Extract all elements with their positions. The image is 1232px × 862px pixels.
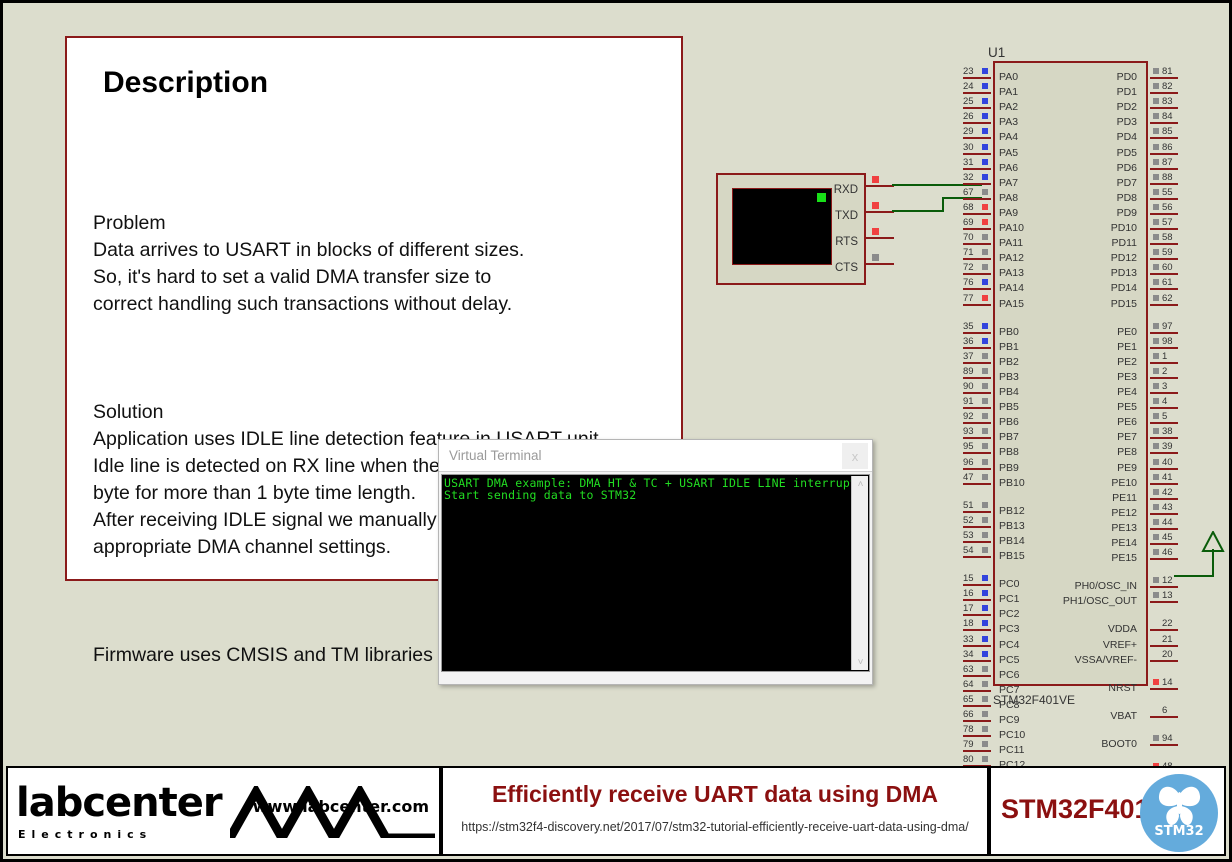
pin-label-ph0-osc-in: PH0/OSC_IN (1075, 580, 1137, 592)
serial-pin-label-cts: CTS (835, 262, 858, 274)
pin-lead-85 (1150, 137, 1178, 139)
pin-label-pa5: PA5 (999, 147, 1018, 159)
pin-label-pe4: PE4 (1117, 386, 1137, 398)
pin-label-pe10: PE10 (1111, 477, 1137, 489)
pin-lead-31 (963, 168, 991, 170)
pin-lead-84 (1150, 122, 1178, 124)
pin-label-pd0: PD0 (1117, 71, 1137, 83)
pin-lead-26 (963, 122, 991, 124)
pin-lead-72 (963, 273, 991, 275)
pin-lead-67 (963, 198, 991, 200)
pin-number-58: 58 (1162, 232, 1173, 243)
pin-lead-68 (963, 213, 991, 215)
pin-number-76: 76 (963, 277, 974, 288)
pin-marker-45 (1153, 534, 1159, 540)
pin-label-pc4: PC4 (999, 639, 1019, 651)
pin-lead-82 (1150, 92, 1178, 94)
pin-label-boot0: BOOT0 (1101, 738, 1137, 750)
pin-lead-23 (963, 77, 991, 79)
pin-marker-61 (1153, 279, 1159, 285)
mcu-reference-label: U1 (988, 45, 1005, 60)
pin-label-pb10: PB10 (999, 477, 1025, 489)
pin-number-78: 78 (963, 724, 974, 735)
pin-number-80: 80 (963, 754, 974, 765)
pin-label-pd12: PD12 (1111, 252, 1137, 264)
pin-label-pe1: PE1 (1117, 341, 1137, 353)
pin-label-pc2: PC2 (999, 608, 1019, 620)
pin-number-77: 77 (963, 293, 974, 304)
pin-number-46: 46 (1162, 547, 1173, 558)
chevron-down-icon[interactable]: ˅ (852, 654, 869, 670)
pin-marker-76 (982, 279, 988, 285)
pin-lead-71 (963, 258, 991, 260)
pin-label-pe11: PE11 (1112, 492, 1137, 504)
pin-lead-25 (963, 107, 991, 109)
pin-marker-60 (1153, 264, 1159, 270)
pin-lead-81 (1150, 77, 1178, 79)
pin-number-81: 81 (1162, 66, 1173, 77)
pin-lead-92 (963, 422, 991, 424)
pin-number-43: 43 (1162, 502, 1173, 513)
pin-marker-92 (982, 413, 988, 419)
pin-marker-58 (1153, 234, 1159, 240)
virtual-terminal-scrollbar[interactable]: ˄ ˅ (851, 476, 868, 670)
pin-label-pa1: PA1 (999, 86, 1018, 98)
pin-marker-30 (982, 144, 988, 150)
pin-label-pd3: PD3 (1117, 116, 1137, 128)
pin-number-29: 29 (963, 126, 974, 137)
power-symbol-icon (1201, 531, 1225, 553)
pin-lead-93 (963, 437, 991, 439)
pin-label-pd6: PD6 (1117, 162, 1137, 174)
pin-label-pb4: PB4 (999, 386, 1019, 398)
pin-lead-56 (1150, 213, 1178, 215)
pin-lead-83 (1150, 107, 1178, 109)
pin-lead-1 (1150, 362, 1178, 364)
pin-marker-65 (982, 696, 988, 702)
pin-lead-41 (1150, 483, 1178, 485)
pin-label-pe8: PE8 (1117, 446, 1137, 458)
pin-number-33: 33 (963, 634, 974, 645)
pin-label-pd10: PD10 (1111, 222, 1137, 234)
pin-marker-34 (982, 651, 988, 657)
pin-number-47: 47 (963, 472, 974, 483)
close-icon[interactable]: x (842, 443, 868, 469)
pin-lead-29 (963, 137, 991, 139)
pin-marker-17 (982, 605, 988, 611)
pin-number-42: 42 (1162, 487, 1173, 498)
chevron-up-icon[interactable]: ˄ (852, 476, 869, 492)
pin-lead-4 (1150, 407, 1178, 409)
footer: labcenter Electronics www.labcenter.com … (6, 766, 1226, 856)
pin-number-34: 34 (963, 649, 974, 660)
pin-label-pe14: PE14 (1111, 537, 1137, 549)
pin-lead-47 (963, 483, 991, 485)
pin-number-38: 38 (1162, 426, 1173, 437)
pin-label-pe5: PE5 (1117, 401, 1137, 413)
pin-marker-4 (1153, 398, 1159, 404)
pin-marker-14 (1153, 679, 1159, 685)
pin-label-nrst: NRST (1108, 682, 1137, 694)
pin-marker-32 (982, 174, 988, 180)
pin-lead-94 (1150, 744, 1178, 746)
pin-marker-42 (1153, 489, 1159, 495)
pin-lead-46 (1150, 558, 1178, 560)
pin-marker-39 (1153, 443, 1159, 449)
pin-lead-78 (963, 735, 991, 737)
pin-marker-56 (1153, 204, 1159, 210)
serial-marker-txd (872, 202, 879, 209)
pin-number-96: 96 (963, 457, 974, 468)
pin-label-pb7: PB7 (999, 431, 1019, 443)
pin-number-44: 44 (1162, 517, 1173, 528)
serial-marker-rxd (872, 176, 879, 183)
pin-marker-77 (982, 295, 988, 301)
pin-lead-89 (963, 377, 991, 379)
pin-marker-38 (1153, 428, 1159, 434)
pin-lead-90 (963, 392, 991, 394)
pin-marker-3 (1153, 383, 1159, 389)
waveform-icon (230, 786, 435, 838)
pin-label-pe12: PE12 (1111, 507, 1137, 519)
pin-number-88: 88 (1162, 172, 1173, 183)
labcenter-subtitle: Electronics (18, 828, 152, 841)
pin-label-pb12: PB12 (999, 505, 1025, 517)
pin-marker-51 (982, 502, 988, 508)
stm32-badge-icon: STM32 (1140, 774, 1218, 852)
pin-number-71: 71 (963, 247, 974, 258)
pin-marker-83 (1153, 98, 1159, 104)
pin-lead-52 (963, 526, 991, 528)
pin-marker-85 (1153, 128, 1159, 134)
pin-number-79: 79 (963, 739, 974, 750)
pin-marker-79 (982, 741, 988, 747)
pin-label-pc6: PC6 (999, 669, 1019, 681)
pin-number-26: 26 (963, 111, 974, 122)
pin-number-12: 12 (1162, 575, 1173, 586)
pin-label-pc11: PC11 (999, 744, 1025, 756)
pin-label-pc0: PC0 (999, 578, 1019, 590)
pin-marker-16 (982, 590, 988, 596)
pin-lead-70 (963, 243, 991, 245)
pin-lead-87 (1150, 168, 1178, 170)
serial-marker-cts (872, 254, 879, 261)
pin-number-86: 86 (1162, 142, 1173, 153)
pin-label-pa3: PA3 (999, 116, 1018, 128)
pin-marker-64 (982, 681, 988, 687)
pin-label-pb3: PB3 (999, 371, 1019, 383)
pin-label-pa0: PA0 (999, 71, 1018, 83)
pin-lead-79 (963, 750, 991, 752)
pin-lead-16 (963, 599, 991, 601)
pin-lead-18 (963, 629, 991, 631)
pin-marker-33 (982, 636, 988, 642)
pin-number-72: 72 (963, 262, 974, 273)
pin-lead-95 (963, 452, 991, 454)
pin-number-4: 4 (1162, 396, 1167, 407)
pin-marker-29 (982, 128, 988, 134)
pin-marker-98 (1153, 338, 1159, 344)
pin-label-pe7: PE7 (1117, 431, 1137, 443)
pin-marker-86 (1153, 144, 1159, 150)
pin-lead-34 (963, 660, 991, 662)
pin-marker-15 (982, 575, 988, 581)
pin-number-37: 37 (963, 351, 974, 362)
pin-label-pe13: PE13 (1111, 522, 1137, 534)
pin-number-65: 65 (963, 694, 974, 705)
pin-lead-5 (1150, 422, 1178, 424)
pin-lead-39 (1150, 452, 1178, 454)
pin-lead-97 (1150, 332, 1178, 334)
pin-number-18: 18 (963, 618, 974, 629)
pin-label-vssa-vref-: VSSA/VREF- (1075, 654, 1137, 666)
pin-label-pb15: PB15 (999, 550, 1025, 562)
pin-marker-80 (982, 756, 988, 762)
pin-number-52: 52 (963, 515, 974, 526)
pin-number-98: 98 (1162, 336, 1173, 347)
footer-title: Efficiently receive UART data using DMA (443, 781, 987, 808)
pin-number-85: 85 (1162, 126, 1173, 137)
pin-number-25: 25 (963, 96, 974, 107)
pin-label-pd4: PD4 (1117, 131, 1137, 143)
pin-lead-58 (1150, 243, 1178, 245)
pin-lead-12 (1150, 586, 1178, 588)
serial-lead-rts (866, 237, 894, 239)
pin-marker-52 (982, 517, 988, 523)
pin-marker-46 (1153, 549, 1159, 555)
pin-marker-55 (1153, 189, 1159, 195)
serial-lead-rxd (866, 185, 894, 187)
pin-lead-38 (1150, 437, 1178, 439)
pin-number-67: 67 (963, 187, 974, 198)
serial-lead-cts (866, 263, 894, 265)
pin-number-93: 93 (963, 426, 974, 437)
pin-lead-60 (1150, 273, 1178, 275)
virtual-terminal-title: Virtual Terminal (449, 448, 542, 463)
pin-marker-59 (1153, 249, 1159, 255)
pin-marker-78 (982, 726, 988, 732)
pin-label-pe6: PE6 (1117, 416, 1137, 428)
pin-marker-43 (1153, 504, 1159, 510)
serial-port-body: RXD TXD RTS CTS (716, 173, 866, 285)
pin-number-30: 30 (963, 142, 974, 153)
pin-marker-31 (982, 159, 988, 165)
pin-label-pc1: PC1 (999, 593, 1019, 605)
wire-nrst-v (1212, 549, 1214, 577)
serial-port-led-icon (817, 193, 826, 202)
pin-label-vdda: VDDA (1108, 623, 1137, 635)
labcenter-logo: labcenter Electronics www.labcenter.com (6, 766, 441, 856)
pin-number-70: 70 (963, 232, 974, 243)
pin-marker-93 (982, 428, 988, 434)
pin-label-pe9: PE9 (1117, 462, 1137, 474)
pin-label-pd5: PD5 (1117, 147, 1137, 159)
pin-number-59: 59 (1162, 247, 1173, 258)
pin-marker-95 (982, 443, 988, 449)
pin-number-41: 41 (1162, 472, 1173, 483)
pin-label-pb1: PB1 (999, 341, 1019, 353)
pin-marker-40 (1153, 459, 1159, 465)
pin-label-pc8: PC8 (999, 699, 1019, 711)
pin-lead-21 (1150, 645, 1178, 647)
pin-label-pc5: PC5 (999, 654, 1019, 666)
pin-marker-2 (1153, 368, 1159, 374)
pin-label-pd9: PD9 (1117, 207, 1137, 219)
pin-number-90: 90 (963, 381, 974, 392)
pin-marker-94 (1153, 735, 1159, 741)
pin-number-69: 69 (963, 217, 974, 228)
pin-lead-57 (1150, 228, 1178, 230)
pin-lead-6 (1150, 716, 1178, 718)
pin-marker-26 (982, 113, 988, 119)
pin-label-vref-: VREF+ (1103, 639, 1137, 651)
pin-marker-90 (982, 383, 988, 389)
pin-label-pa11: PA11 (999, 237, 1023, 249)
pin-marker-63 (982, 666, 988, 672)
pin-label-pa14: PA14 (999, 282, 1024, 294)
pin-lead-98 (1150, 347, 1178, 349)
serial-pin-label-txd: TXD (835, 210, 858, 222)
pin-marker-41 (1153, 474, 1159, 480)
serial-pin-label-rts: RTS (835, 236, 858, 248)
pin-number-22: 22 (1162, 618, 1173, 629)
pin-marker-18 (982, 620, 988, 626)
pin-marker-57 (1153, 219, 1159, 225)
pin-number-83: 83 (1162, 96, 1173, 107)
pin-lead-20 (1150, 660, 1178, 662)
pin-marker-35 (982, 323, 988, 329)
pin-number-60: 60 (1162, 262, 1173, 273)
serial-marker-rts (872, 228, 879, 235)
pin-marker-54 (982, 547, 988, 553)
pin-marker-82 (1153, 83, 1159, 89)
pin-marker-47 (982, 474, 988, 480)
virtual-terminal-titlebar[interactable]: Virtual Terminal x (439, 440, 872, 472)
footer-title-cell: Efficiently receive UART data using DMA … (441, 766, 989, 856)
pin-label-pb6: PB6 (999, 416, 1019, 428)
pin-marker-24 (982, 83, 988, 89)
pin-lead-3 (1150, 392, 1178, 394)
pin-lead-33 (963, 645, 991, 647)
labcenter-wordmark: labcenter (16, 780, 222, 826)
pin-number-21: 21 (1162, 634, 1173, 645)
pin-lead-91 (963, 407, 991, 409)
page-title: Description (103, 66, 268, 100)
wire-txd-v (942, 197, 944, 212)
pin-lead-30 (963, 153, 991, 155)
pin-number-94: 94 (1162, 733, 1173, 744)
pin-number-15: 15 (963, 573, 974, 584)
pin-number-54: 54 (963, 545, 974, 556)
pin-marker-44 (1153, 519, 1159, 525)
pin-number-56: 56 (1162, 202, 1173, 213)
pin-label-pb13: PB13 (999, 520, 1025, 532)
pin-label-pc9: PC9 (999, 714, 1019, 726)
pin-number-39: 39 (1162, 441, 1173, 452)
pin-lead-43 (1150, 513, 1178, 515)
footer-mcu-cell: STM32F401 STM32 (989, 766, 1226, 856)
pin-lead-42 (1150, 498, 1178, 500)
pin-number-24: 24 (963, 81, 974, 92)
pin-label-pa9: PA9 (999, 207, 1018, 219)
pin-label-pa10: PA10 (999, 222, 1024, 234)
pin-lead-69 (963, 228, 991, 230)
footer-mcu-name: STM32F401 (1001, 794, 1150, 825)
pin-label-ph1-osc-out: PH1/OSC_OUT (1063, 595, 1137, 607)
pin-lead-86 (1150, 153, 1178, 155)
footer-url: https://stm32f4-discovery.net/2017/07/st… (443, 820, 987, 834)
pin-marker-87 (1153, 159, 1159, 165)
pin-number-95: 95 (963, 441, 974, 452)
pin-label-pb5: PB5 (999, 401, 1019, 413)
pin-lead-35 (963, 332, 991, 334)
pin-lead-55 (1150, 198, 1178, 200)
pin-lead-14 (1150, 688, 1178, 690)
pin-label-pa8: PA8 (999, 192, 1018, 204)
pin-lead-22 (1150, 629, 1178, 631)
pin-label-pd14: PD14 (1111, 282, 1137, 294)
pin-number-68: 68 (963, 202, 974, 213)
stm32-badge-text: STM32 (1140, 824, 1218, 839)
pin-marker-81 (1153, 68, 1159, 74)
pin-number-17: 17 (963, 603, 974, 614)
pin-lead-59 (1150, 258, 1178, 260)
pin-number-2: 2 (1162, 366, 1167, 377)
pin-number-23: 23 (963, 66, 974, 77)
pin-number-53: 53 (963, 530, 974, 541)
pin-label-pe0: PE0 (1117, 326, 1137, 338)
pin-lead-44 (1150, 528, 1178, 530)
pin-number-63: 63 (963, 664, 974, 675)
pin-marker-25 (982, 98, 988, 104)
pin-number-91: 91 (963, 396, 974, 407)
pin-lead-65 (963, 705, 991, 707)
pin-label-pb0: PB0 (999, 326, 1019, 338)
pin-label-pe2: PE2 (1117, 356, 1137, 368)
virtual-terminal-body: USART DMA example: DMA HT & TC + USART I… (441, 474, 870, 672)
pin-label-pa15: PA15 (999, 298, 1024, 310)
pin-lead-15 (963, 584, 991, 586)
pin-lead-53 (963, 541, 991, 543)
pin-lead-66 (963, 720, 991, 722)
pin-number-32: 32 (963, 172, 974, 183)
pin-lead-76 (963, 288, 991, 290)
pin-lead-88 (1150, 183, 1178, 185)
pin-marker-91 (982, 398, 988, 404)
pin-marker-97 (1153, 323, 1159, 329)
serial-lead-txd (866, 211, 894, 213)
pin-label-pa2: PA2 (999, 101, 1018, 113)
pin-number-87: 87 (1162, 157, 1173, 168)
pin-number-62: 62 (1162, 293, 1173, 304)
pin-marker-12 (1153, 577, 1159, 583)
pin-marker-62 (1153, 295, 1159, 301)
pin-marker-66 (982, 711, 988, 717)
virtual-terminal-window[interactable]: Virtual Terminal x USART DMA example: DM… (438, 439, 873, 685)
pin-label-pd1: PD1 (1117, 86, 1137, 98)
pin-label-pb8: PB8 (999, 446, 1019, 458)
pin-label-pc7: PC7 (999, 684, 1019, 696)
pin-lead-40 (1150, 468, 1178, 470)
pin-number-16: 16 (963, 588, 974, 599)
wire-txd-h1 (892, 210, 944, 212)
pin-lead-64 (963, 690, 991, 692)
pin-label-pc3: PC3 (999, 623, 1019, 635)
pin-marker-96 (982, 459, 988, 465)
pin-label-pb14: PB14 (999, 535, 1025, 547)
pin-label-pd2: PD2 (1117, 101, 1137, 113)
pin-number-36: 36 (963, 336, 974, 347)
